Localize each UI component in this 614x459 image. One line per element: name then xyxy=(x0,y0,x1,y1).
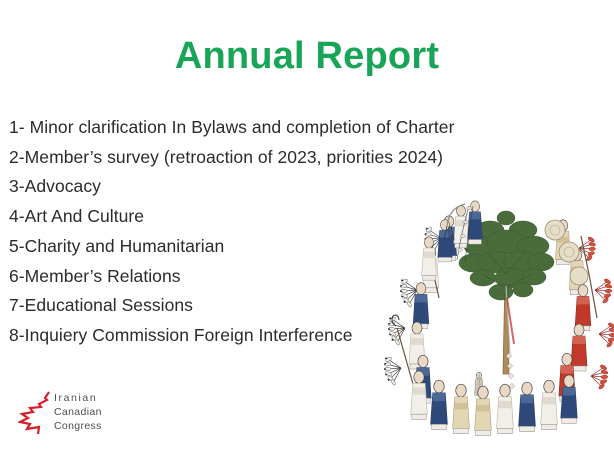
figure-group-bottom xyxy=(411,371,577,436)
logo-wordmark: Iranian Canadian Congress xyxy=(54,391,102,433)
list-item: 5-Charity and Humanitarian xyxy=(9,232,549,262)
list-item: 8-Inquiery Commission Foreign Interferen… xyxy=(9,321,549,351)
slide-canvas: Annual Report 1- Minor clarification In … xyxy=(0,0,614,459)
iranian-canadian-congress-logo: Iranian Canadian Congress xyxy=(18,383,138,441)
page-title: Annual Report xyxy=(0,33,614,79)
list-item: 4-Art And Culture xyxy=(9,202,549,232)
logo-line-canadian: Canadian xyxy=(54,405,102,419)
list-item: 7-Educational Sessions xyxy=(9,291,549,321)
logo-line-congress: Congress xyxy=(54,419,102,433)
maple-leaf-icon xyxy=(18,389,52,435)
logo-line-iranian: Iranian xyxy=(54,391,102,405)
list-item: 1- Minor clarification In Bylaws and com… xyxy=(9,113,549,143)
agenda-list: 1- Minor clarification In Bylaws and com… xyxy=(9,113,549,351)
figure-group-right xyxy=(545,220,614,401)
list-item: 3-Advocacy xyxy=(9,172,549,202)
list-item: 2-Member’s survey (retroaction of 2023, … xyxy=(9,143,549,173)
list-item: 6-Member’s Relations xyxy=(9,262,549,292)
